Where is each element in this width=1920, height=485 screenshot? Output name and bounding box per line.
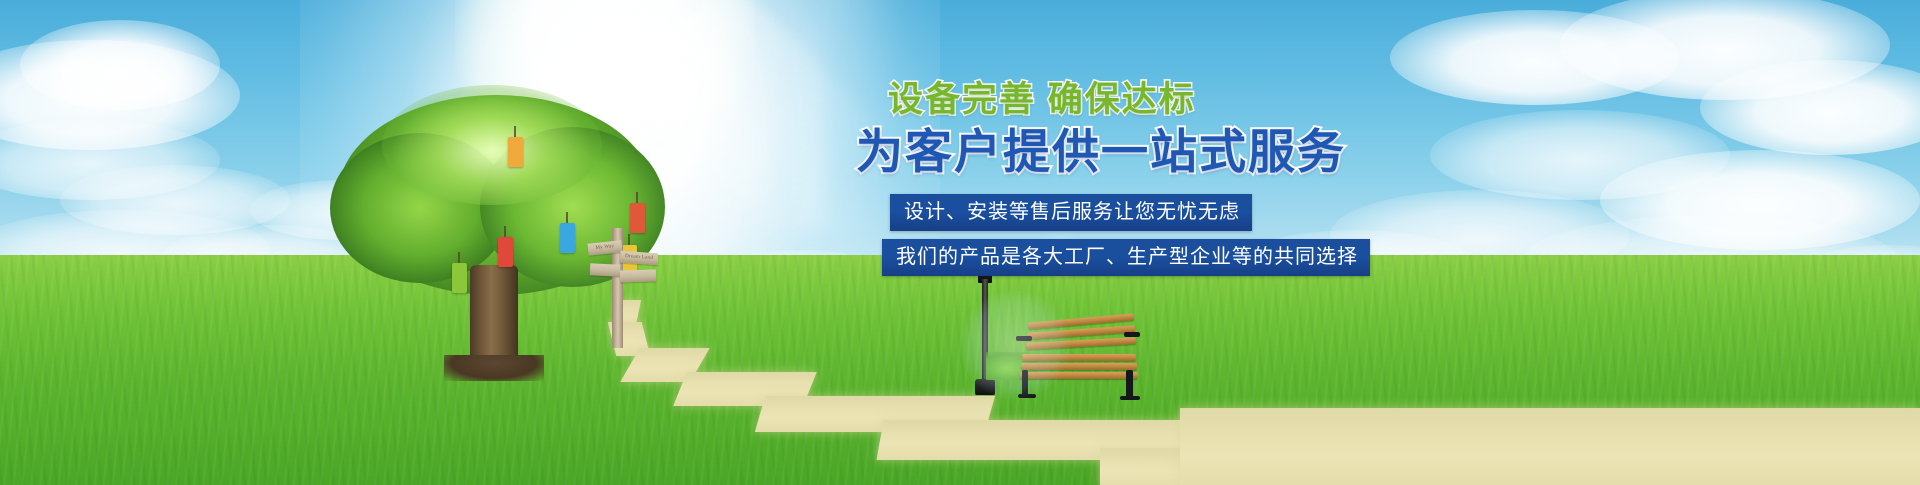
wish-tag (452, 263, 467, 293)
bench-leg (1120, 396, 1140, 400)
lens-flare (960, 290, 1070, 400)
dirt-path (1180, 408, 1920, 485)
wish-tag (508, 137, 523, 167)
subtitle-1-wrap: 设计、安装等售后服务让您无忧无虑 (890, 194, 1500, 231)
cloud (20, 20, 220, 110)
signpost-arm (590, 263, 621, 277)
headline-blue: 为客户提供一站式服务 (856, 124, 1500, 179)
hero-banner: My Way Dream Land 设备完善 (0, 0, 1920, 485)
subtitle-2-wrap: 我们的产品是各大工厂、生产型企业等的共同选择 (882, 239, 1500, 276)
tree-canopy (382, 85, 602, 205)
signpost-arm: Dream Land (620, 251, 659, 266)
signpost-arm-label (620, 269, 656, 270)
subtitle-2: 我们的产品是各大工厂、生产型企业等的共同选择 (882, 239, 1370, 276)
subtitle-1: 设计、安装等售后服务让您无忧无虑 (890, 194, 1252, 231)
wish-tag (498, 237, 513, 267)
bench-armrest (1124, 332, 1140, 337)
banner-text-block: 设备完善 确保达标 为客户提供一站式服务 设计、安装等售后服务让您无忧无虑 我们… (860, 80, 1500, 276)
tree-trunk (470, 265, 518, 377)
signpost-arm-label: Dream Land (620, 251, 659, 266)
signpost-arm (620, 269, 656, 282)
wish-tag (560, 223, 575, 253)
signpost: My Way Dream Land (588, 228, 658, 348)
headline-green: 设备完善 确保达标 (888, 80, 1500, 120)
